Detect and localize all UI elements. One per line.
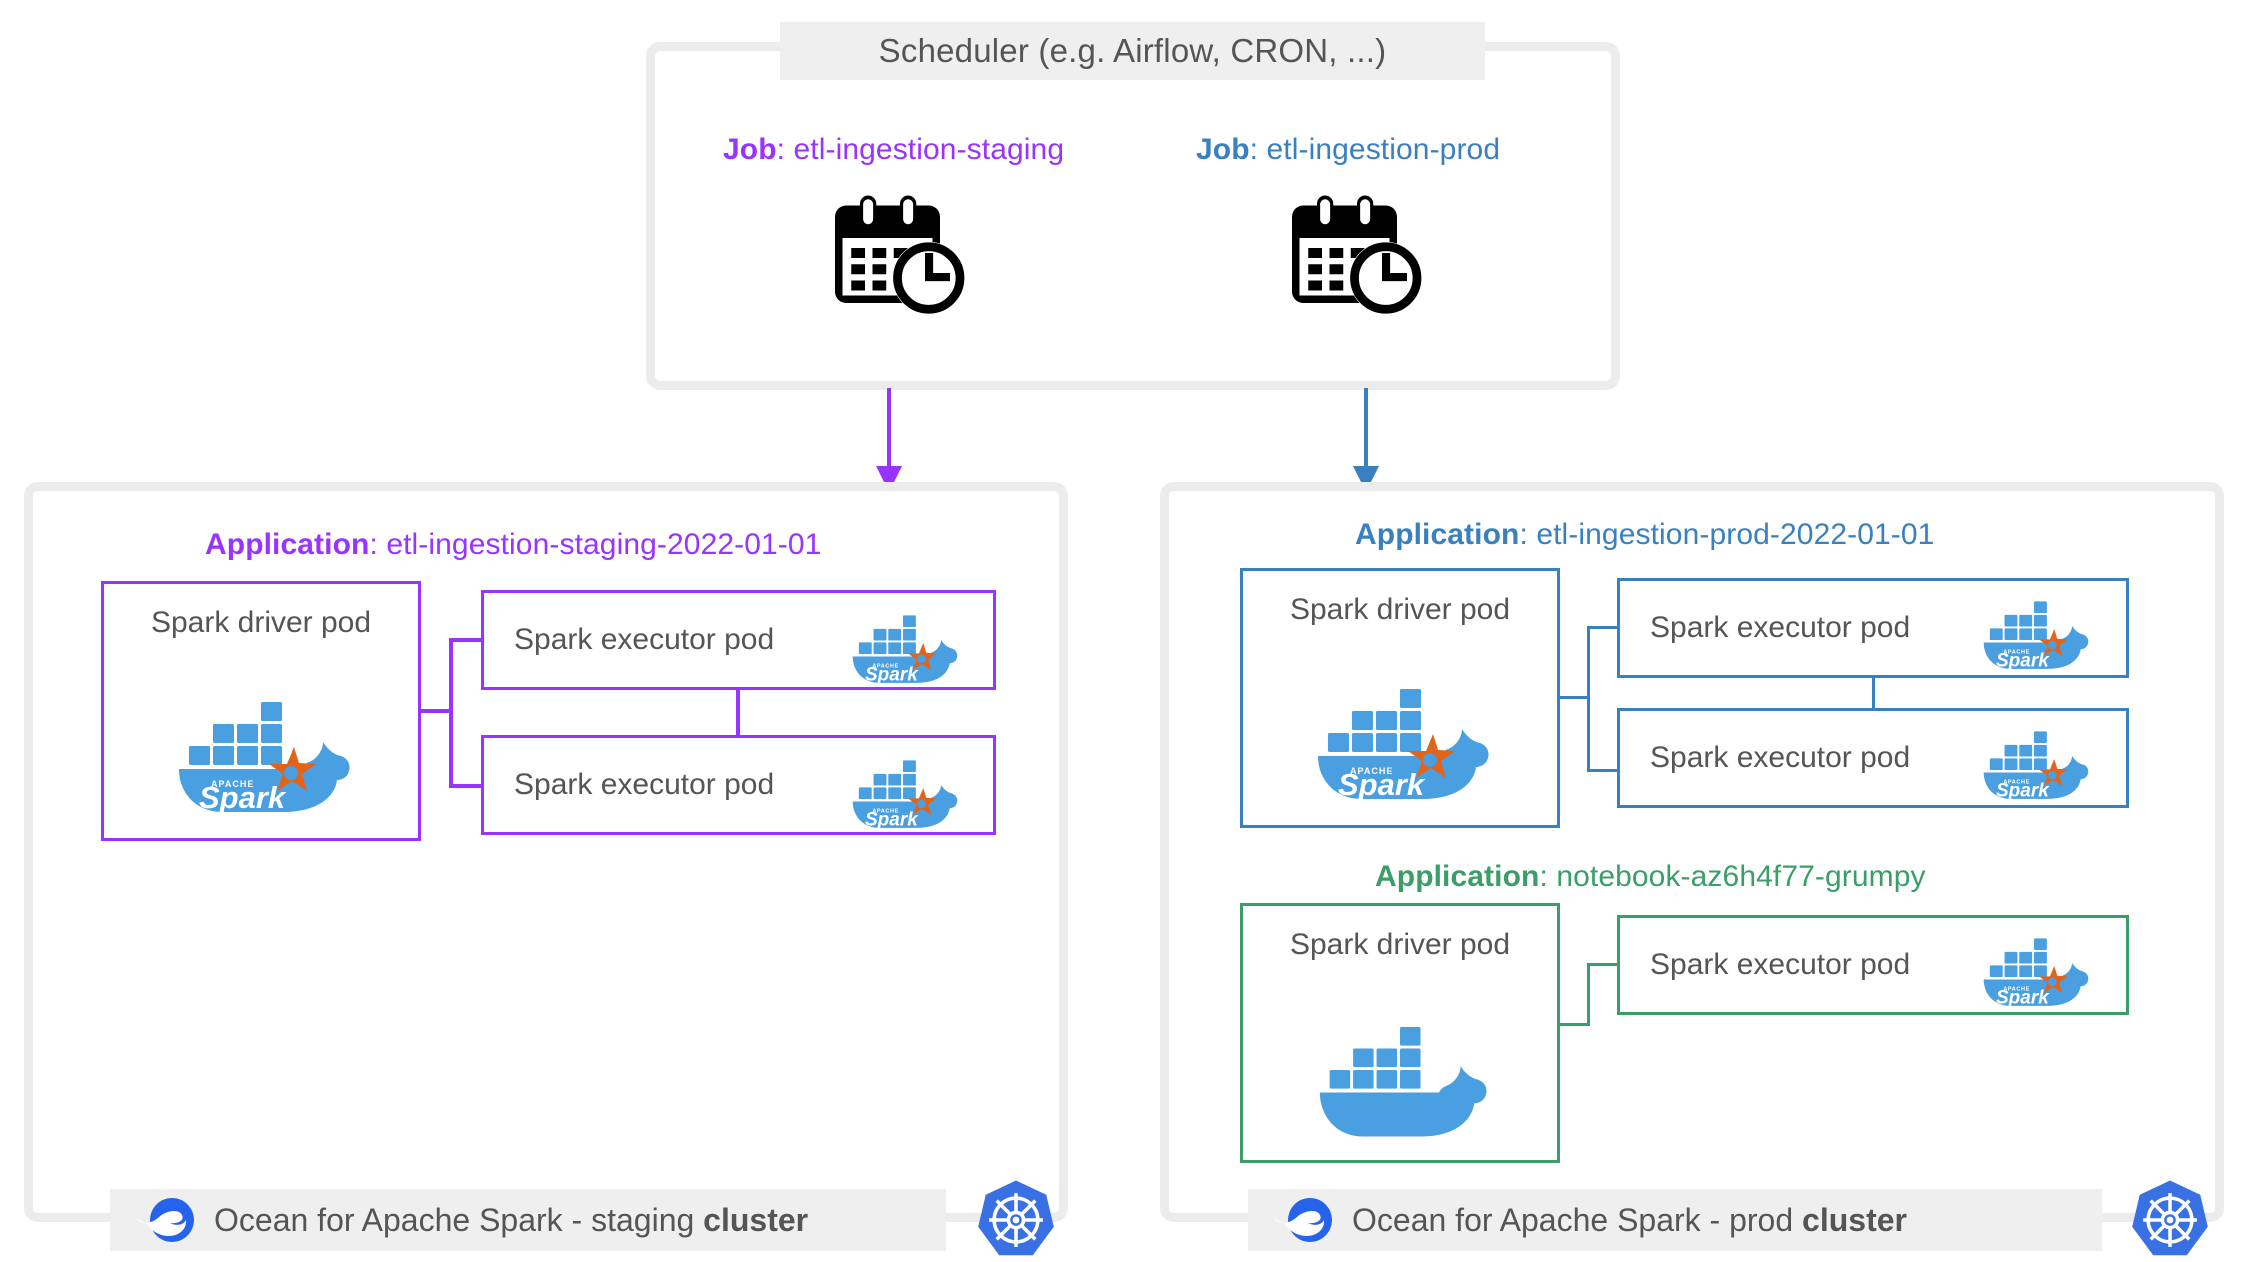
application-prefix-prod: Application [1355, 518, 1519, 551]
spark-executor-pod-notebook-1: Spark executor pod APACHE Spark [1617, 915, 2129, 1015]
docker-spark-whale-icon: APACHE Spark [1956, 713, 2112, 805]
cluster-footer-text: Ocean for Apache Spark - prod cluster [1352, 1202, 1907, 1239]
connector-trunk [1560, 1023, 1590, 1026]
docker-spark-whale-icon: APACHE Spark [151, 672, 371, 822]
connector-branch-top [1587, 626, 1619, 629]
ocean-logo-icon [1272, 1196, 1338, 1244]
pod-label: Spark executor pod [1650, 741, 1910, 775]
job-name-staging: etl-ingestion-staging [794, 133, 1065, 166]
cluster-footer-emphasis: cluster [1802, 1202, 1907, 1238]
job-label-prod: Job: etl-ingestion-prod [1196, 133, 1500, 167]
pod-label: Spark executor pod [1650, 948, 1910, 982]
pod-label: Spark driver pod [1290, 928, 1510, 962]
pod-label: Spark executor pod [514, 623, 774, 657]
docker-spark-whale-icon: APACHE Spark [825, 742, 981, 834]
pod-label: Spark executor pod [514, 768, 774, 802]
job-prefix-prod: Job [1196, 133, 1250, 166]
application-separator-staging: : [369, 528, 386, 561]
connector-branch-top [1587, 963, 1619, 966]
application-separator-notebook: : [1539, 860, 1556, 893]
application-label-notebook: Application: notebook-az6h4f77-grumpy [1375, 860, 1926, 894]
pod-label: Spark driver pod [151, 606, 371, 640]
docker-spark-whale-icon: APACHE Spark [1956, 583, 2112, 675]
diagram-canvas: Scheduler (e.g. Airflow, CRON, ...) Job:… [0, 0, 2248, 1262]
ocean-logo-icon [134, 1196, 200, 1244]
application-separator-prod: : [1519, 518, 1536, 551]
cluster-footer-staging: Ocean for Apache Spark - staging cluster [110, 1189, 946, 1251]
job-prefix-staging: Job [723, 133, 777, 166]
job-name-prod: etl-ingestion-prod [1267, 133, 1501, 166]
docker-spark-whale-icon: APACHE Spark [1956, 920, 2112, 1012]
spark-executor-pod-prod-1: Spark executor pod APACHE Spark [1617, 578, 2129, 678]
application-label-staging: Application: etl-ingestion-staging-2022-… [205, 528, 821, 562]
connector-branch-top [449, 638, 483, 642]
connector-spine [449, 640, 453, 788]
job-separator-prod: : [1250, 133, 1267, 166]
spark-driver-pod-prod: Spark driver pod APACHE Spark [1240, 568, 1560, 828]
connector-exec-link [736, 690, 740, 736]
svg-text:Spark: Spark [1996, 650, 2050, 671]
application-name-notebook: notebook-az6h4f77-grumpy [1556, 860, 1925, 893]
spark-executor-pod-staging-2: Spark executor pod APACHE Spark [481, 735, 996, 835]
connector-branch-bottom [1587, 769, 1619, 772]
docker-spark-whale-icon: APACHE Spark [825, 597, 981, 689]
connector-spine [1587, 626, 1590, 772]
application-name-staging: etl-ingestion-staging-2022-01-01 [386, 528, 821, 561]
calendar-clock-icon [1287, 193, 1437, 318]
cluster-footer-prefix: Ocean for Apache Spark - staging [214, 1202, 703, 1238]
docker-whale-icon [1293, 996, 1508, 1146]
scheduler-title: Scheduler (e.g. Airflow, CRON, ...) [780, 22, 1485, 80]
cluster-footer-prefix: Ocean for Apache Spark - prod [1352, 1202, 1802, 1238]
job-label-staging: Job: etl-ingestion-staging [723, 133, 1064, 167]
connector-spine [1587, 963, 1590, 1026]
pod-label: Spark driver pod [1290, 593, 1510, 627]
scheduler-container [646, 42, 1620, 390]
kubernetes-icon [2128, 1178, 2212, 1262]
spark-driver-pod-notebook: Spark driver pod [1240, 903, 1560, 1163]
application-label-prod: Application: etl-ingestion-prod-2022-01-… [1355, 518, 1934, 552]
svg-text:Spark: Spark [199, 780, 287, 815]
application-name-prod: etl-ingestion-prod-2022-01-01 [1536, 518, 1934, 551]
svg-text:Spark: Spark [1996, 780, 2050, 801]
spark-driver-pod-staging: Spark driver pod APACHE Spark [101, 581, 421, 841]
docker-spark-whale-icon: APACHE Spark [1290, 659, 1510, 809]
spark-executor-pod-staging-1: Spark executor pod APACHE Spark [481, 590, 996, 690]
connector-exec-link [1872, 678, 1875, 708]
svg-text:Spark: Spark [1338, 767, 1426, 802]
cluster-footer-text: Ocean for Apache Spark - staging cluster [214, 1202, 808, 1239]
application-prefix-staging: Application [205, 528, 369, 561]
cluster-footer-prod: Ocean for Apache Spark - prod cluster [1248, 1189, 2102, 1251]
svg-text:Spark: Spark [1996, 987, 2050, 1008]
job-separator-staging: : [777, 133, 794, 166]
calendar-clock-icon [830, 193, 980, 318]
svg-text:Spark: Spark [865, 664, 919, 685]
application-prefix-notebook: Application [1375, 860, 1539, 893]
pod-label: Spark executor pod [1650, 611, 1910, 645]
spark-executor-pod-prod-2: Spark executor pod APACHE Spark [1617, 708, 2129, 808]
connector-trunk [1560, 696, 1590, 699]
cluster-footer-emphasis: cluster [703, 1202, 808, 1238]
connector-branch-bottom [449, 784, 483, 788]
kubernetes-icon [974, 1178, 1058, 1262]
svg-text:Spark: Spark [865, 809, 919, 830]
